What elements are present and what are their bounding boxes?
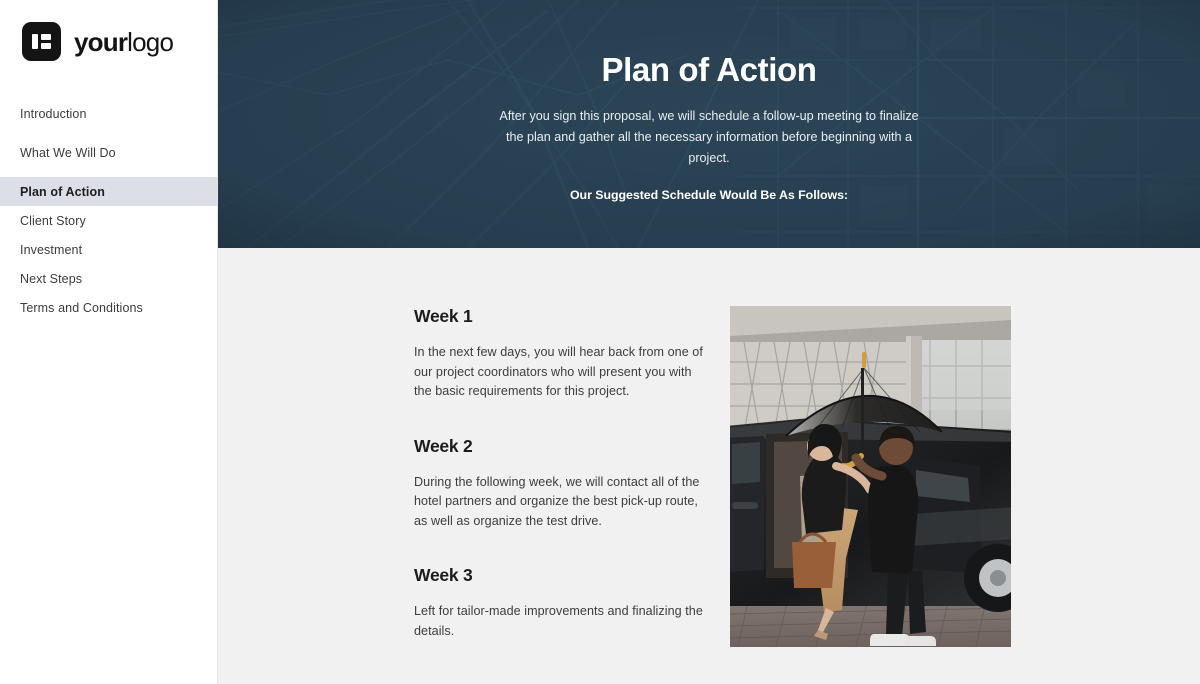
- main-content: Plan of Action After you sign this propo…: [218, 0, 1200, 684]
- layout-panel-icon: [22, 22, 61, 61]
- week-block-3: Week 3 Left for tailor-made improvements…: [414, 565, 704, 641]
- sidebar-item-next-steps[interactable]: Next Steps: [0, 264, 218, 293]
- plan-body: Week 1 In the next few days, you will he…: [218, 248, 1200, 647]
- weeks-column: Week 1 In the next few days, you will he…: [414, 306, 704, 647]
- page-hero: Plan of Action After you sign this propo…: [218, 0, 1200, 248]
- chauffeur-photo: [730, 306, 1011, 647]
- sidebar-item-client-story[interactable]: Client Story: [0, 206, 218, 235]
- week-2-title: Week 2: [414, 436, 704, 457]
- sidebar-item-plan-of-action[interactable]: Plan of Action: [0, 177, 218, 206]
- week-2-text: During the following week, we will conta…: [414, 473, 704, 532]
- sidebar-item-terms-and-conditions[interactable]: Terms and Conditions: [0, 293, 218, 322]
- week-1-text: In the next few days, you will hear back…: [414, 343, 704, 402]
- brand-name: yourlogo: [74, 29, 173, 55]
- sidebar-item-introduction[interactable]: Introduction: [0, 99, 218, 128]
- brand-name-light: logo: [127, 27, 173, 57]
- brand-name-bold: your: [74, 27, 127, 57]
- sidebar-item-what-we-will-do[interactable]: What We Will Do: [0, 138, 218, 167]
- page-title: Plan of Action: [601, 52, 816, 88]
- sidebar-nav: Introduction What We Will Do Plan of Act…: [0, 99, 218, 322]
- sidebar: yourlogo Introduction What We Will Do Pl…: [0, 0, 218, 684]
- hero-schedule-note: Our Suggested Schedule Would Be As Follo…: [570, 188, 848, 202]
- week-block-1: Week 1 In the next few days, you will he…: [414, 306, 704, 402]
- week-3-title: Week 3: [414, 565, 704, 586]
- hero-subtitle: After you sign this proposal, we will sc…: [494, 106, 924, 169]
- photo-column: [730, 306, 1011, 647]
- week-block-2: Week 2 During the following week, we wil…: [414, 436, 704, 532]
- brand-logo[interactable]: yourlogo: [0, 0, 218, 61]
- week-1-title: Week 1: [414, 306, 704, 327]
- sidebar-divider: [217, 0, 218, 684]
- proposal-page: yourlogo Introduction What We Will Do Pl…: [0, 0, 1200, 684]
- sidebar-item-investment[interactable]: Investment: [0, 235, 218, 264]
- week-3-text: Left for tailor-made improvements and fi…: [414, 602, 704, 641]
